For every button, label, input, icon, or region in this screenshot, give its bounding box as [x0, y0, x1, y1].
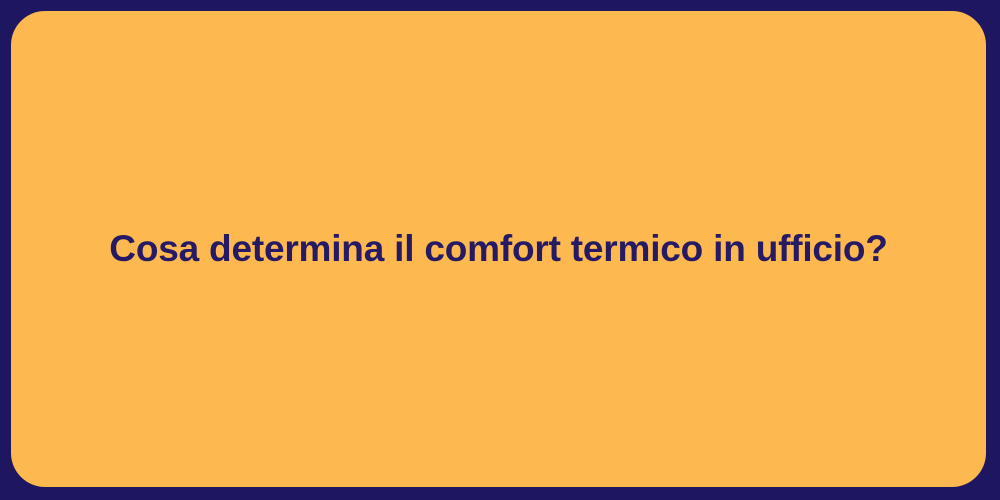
page-title: Cosa determina il comfort termico in uff… — [69, 226, 927, 272]
page-background: Cosa determina il comfort termico in uff… — [0, 0, 1000, 500]
content-card: Cosa determina il comfort termico in uff… — [11, 11, 986, 487]
